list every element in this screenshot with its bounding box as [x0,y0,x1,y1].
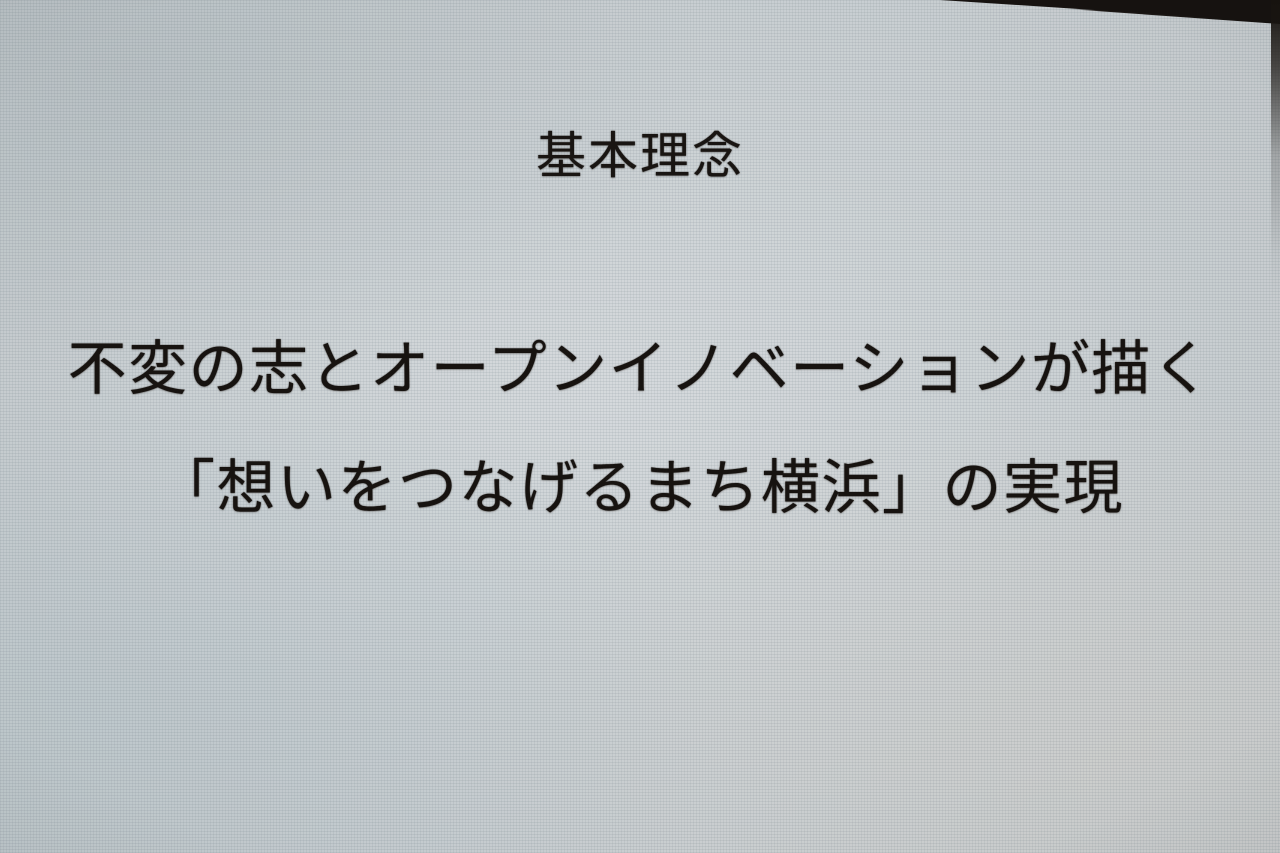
slide-body-line-2: 「想いをつなげるまち横浜」の実現 [0,459,1280,518]
slide-body-line-1: 不変の志とオープンイノベーションが描く [0,340,1280,399]
slide-body: 不変の志とオープンイノベーションが描く 「想いをつなげるまち横浜」の実現 [0,340,1280,518]
slide-content: 基本理念 不変の志とオープンイノベーションが描く 「想いをつなげるまち横浜」の実… [0,0,1280,853]
slide-title: 基本理念 [0,128,1280,184]
projected-slide-photo: 基本理念 不変の志とオープンイノベーションが描く 「想いをつなげるまち横浜」の実… [0,0,1280,853]
